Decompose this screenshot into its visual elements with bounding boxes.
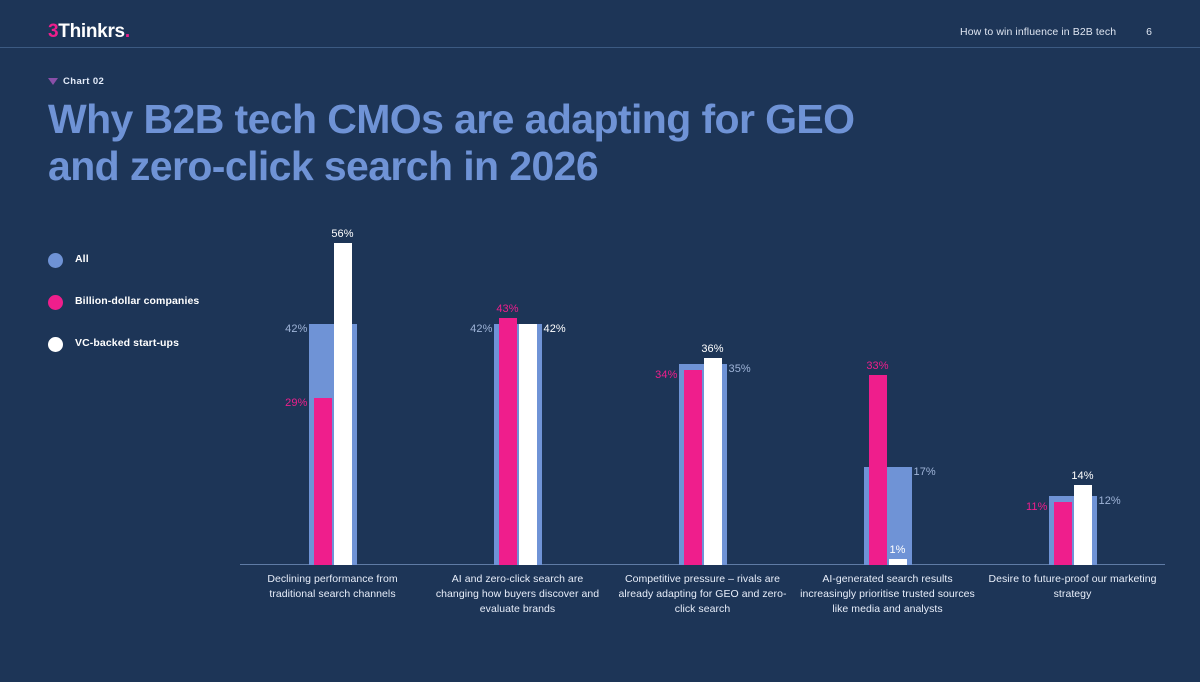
bar-vc-backed-start-ups[interactable]	[704, 358, 722, 565]
bar-billion-dollar-companies[interactable]	[684, 370, 702, 566]
bar-value-label-all: 42%	[285, 323, 307, 335]
bar-value-label-all: 42%	[470, 323, 492, 335]
bar-value-label-vc-backed-start-ups: 14%	[1071, 470, 1093, 482]
bar-billion-dollar-companies[interactable]	[1054, 502, 1072, 565]
bar-value-label-all: 12%	[1099, 495, 1121, 507]
x-axis-category-label: AI-generated search results increasingly…	[800, 572, 976, 618]
bar-value-label-vc-backed-start-ups: 42%	[544, 323, 566, 335]
page-header: 3Thinkrs. How to win influence in B2B te…	[0, 0, 1200, 48]
bar-value-label-vc-backed-start-ups: 36%	[701, 343, 723, 355]
bar-value-label-vc-backed-start-ups: 56%	[331, 228, 353, 240]
logo-prefix: 3	[48, 21, 58, 42]
logo-word: Thinkrs	[58, 21, 125, 42]
bar-vc-backed-start-ups[interactable]	[519, 324, 537, 566]
bar-value-label-billion-dollar-companies: 33%	[866, 360, 888, 372]
legend-item-all[interactable]: All	[48, 252, 223, 268]
bar-value-label-all: 17%	[914, 466, 936, 478]
legend-label: VC-backed start-ups	[75, 336, 179, 350]
bar-group: 35%34%36%	[610, 220, 795, 565]
bar-group: 42%29%56%	[240, 220, 425, 565]
legend-dot-icon	[48, 295, 63, 310]
x-axis-category-label: AI and zero-click search are changing ho…	[430, 572, 606, 618]
chart-eyebrow: Chart 02	[48, 76, 104, 87]
bar-group: 42%43%42%	[425, 220, 610, 565]
bar-value-label-billion-dollar-companies: 34%	[655, 369, 677, 381]
triangle-down-icon	[48, 78, 58, 85]
bar-chart-plot-area: 42%29%56%42%43%42%35%34%36%17%33%1%12%11…	[240, 220, 1165, 565]
bar-value-label-billion-dollar-companies: 29%	[285, 397, 307, 409]
bar-vc-backed-start-ups[interactable]	[889, 559, 907, 565]
x-axis-category-label: Declining performance from traditional s…	[245, 572, 421, 602]
x-axis-category-label: Competitive pressure – rivals are alread…	[615, 572, 791, 618]
legend-dot-icon	[48, 253, 63, 268]
deck-title: How to win influence in B2B tech	[960, 26, 1116, 38]
legend-label: Billion-dollar companies	[75, 294, 199, 308]
legend-label: All	[75, 252, 89, 266]
bar-value-label-billion-dollar-companies: 11%	[1026, 501, 1048, 513]
legend-dot-icon	[48, 337, 63, 352]
brand-logo[interactable]: 3Thinkrs.	[48, 21, 130, 43]
bar-billion-dollar-companies[interactable]	[869, 375, 887, 565]
bar-group: 12%11%14%	[980, 220, 1165, 565]
page-number: 6	[1146, 26, 1152, 38]
header-right-group: How to win influence in B2B tech 6	[960, 26, 1152, 38]
legend-item-vc-backed-start-ups[interactable]: VC-backed start-ups	[48, 336, 223, 352]
legend-item-billion-dollar-companies[interactable]: Billion-dollar companies	[48, 294, 223, 310]
bar-value-label-billion-dollar-companies: 43%	[496, 303, 518, 315]
logo-dot: .	[125, 21, 130, 42]
bar-value-label-vc-backed-start-ups: 1%	[889, 544, 905, 556]
bar-value-label-all: 35%	[729, 363, 751, 375]
bar-vc-backed-start-ups[interactable]	[1074, 485, 1092, 566]
bar-vc-backed-start-ups[interactable]	[334, 243, 352, 565]
x-axis-category-labels: Declining performance from traditional s…	[240, 572, 1165, 652]
page-title: Why B2B tech CMOs are adapting for GEO a…	[48, 96, 868, 189]
chart-eyebrow-label: Chart 02	[63, 76, 104, 87]
bar-billion-dollar-companies[interactable]	[314, 398, 332, 565]
bar-billion-dollar-companies[interactable]	[499, 318, 517, 565]
x-axis-category-label: Desire to future-proof our marketing str…	[985, 572, 1161, 602]
bar-group: 17%33%1%	[795, 220, 980, 565]
chart-legend: All Billion-dollar companies VC-backed s…	[48, 252, 223, 378]
